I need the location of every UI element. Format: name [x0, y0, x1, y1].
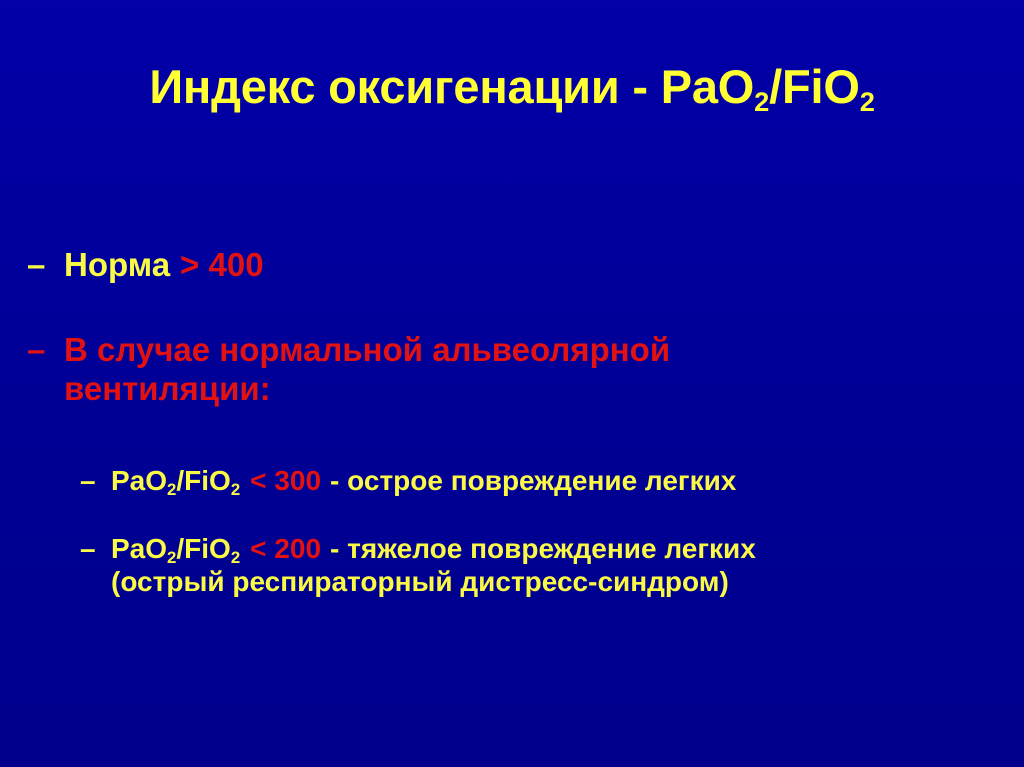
formula-subscript-1: 2 [167, 480, 176, 499]
continuation-text-ards: (острый респираторный дистресс-синдром) [0, 566, 1024, 598]
slide-canvas: Индекс оксигенации - PaO2/FiO2 –Норма> 4… [0, 0, 1024, 767]
title-lead-text: Индекс оксигенации - PaO [149, 60, 754, 113]
page-title: Индекс оксигенации - PaO2/FiO2 [0, 62, 1024, 112]
bullet-dash-icon: – [27, 246, 45, 285]
formula-subscript-2: 2 [231, 480, 240, 499]
formula-lead-text: PaO [111, 533, 167, 564]
formula-mid-text: /FiO [176, 465, 230, 496]
formula-subscript-2: 2 [231, 548, 240, 567]
bullet-dash-icon: – [80, 533, 96, 565]
title-subscript-1: 2 [754, 86, 769, 117]
title-subscript-2: 2 [860, 86, 875, 117]
description-text-ali: - острое повреждение легких [330, 465, 736, 496]
bullet-label-norm: Норма [64, 246, 170, 283]
formula-subscript-1: 2 [167, 548, 176, 567]
formula-lead-text: PaO [111, 465, 167, 496]
bullet-list: –Норма> 400 –В случае нормальной альвеол… [0, 246, 1024, 598]
description-text-ards: - тяжелое повреждение легких [330, 533, 756, 564]
bullet-text-line-2: вентиляции: [64, 370, 1024, 409]
bullet-dash-icon: – [80, 465, 96, 497]
bullet-item-normal-ventilation: –В случае нормальной альвеолярной вентил… [0, 331, 1024, 409]
bullet-item-norm: –Норма> 400 [0, 246, 1024, 285]
bullet-item-ali-300: –PaO2/FiO2< 300- острое повреждение легк… [0, 465, 1024, 497]
bullet-dash-icon: – [27, 331, 45, 370]
title-mid-text: /FiO [769, 60, 860, 113]
bullet-value-norm: > 400 [180, 246, 264, 283]
threshold-value-300: < 300 [250, 465, 321, 496]
formula-mid-text: /FiO [176, 533, 230, 564]
bullet-item-ards-200: –PaO2/FiO2< 200- тяжелое повреждение лег… [0, 533, 1024, 565]
bullet-text-line-1: В случае нормальной альвеолярной [64, 331, 670, 368]
threshold-value-200: < 200 [250, 533, 321, 564]
